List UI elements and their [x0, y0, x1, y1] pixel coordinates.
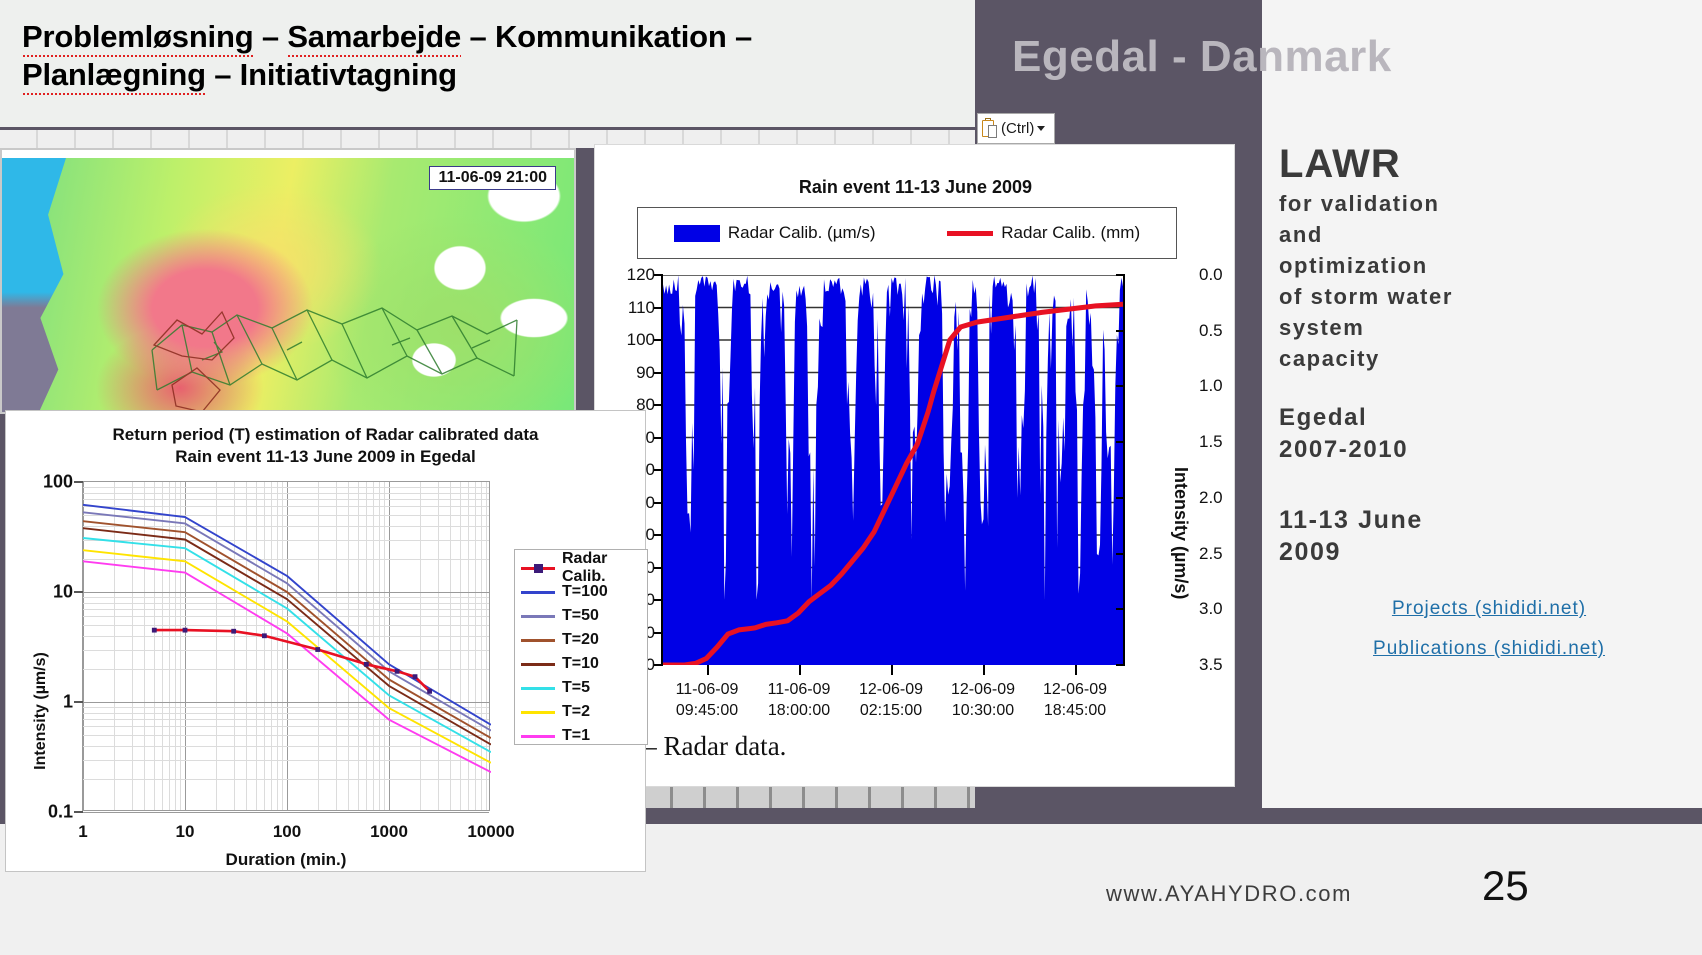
slide-root: Problemløsning – Samarbejde – Kommunikat… [0, 0, 1702, 955]
rain-x-label-date: 12-06-09 [1020, 679, 1130, 700]
rp-legend-item: T=5 [521, 676, 647, 700]
rain-x-tickmark [983, 665, 985, 675]
rain-y-left-tickmark [654, 567, 663, 569]
rain-y-left-tickmark [654, 599, 663, 601]
legend-swatch-line-icon [947, 231, 993, 236]
rain-y-axis-right: 0.00.51.01.52.02.53.03.5 [1123, 275, 1125, 665]
page-number: 25 [1482, 862, 1529, 910]
rp-x-tick: 1000 [370, 822, 408, 842]
rain-y-right-tick: 0.5 [1199, 321, 1223, 341]
rain-x-tickmark [891, 665, 893, 675]
rain-y-right-tick: 1.5 [1199, 432, 1223, 452]
rp-x-tick: 1 [78, 822, 87, 842]
clipboard-paste-icon [981, 118, 999, 139]
rp-legend-label: T=50 [562, 607, 599, 625]
rp-legend-label: T=20 [562, 631, 599, 649]
rp-x-tick: 100 [273, 822, 301, 842]
rain-y-right-tick: 1.0 [1199, 376, 1223, 396]
info-links: Projects (shididi.net) Publications (shi… [1279, 598, 1699, 660]
rp-legend-label: T=1 [562, 727, 590, 745]
rain-y-left-tickmark [654, 437, 663, 439]
legend-label-accumulated: Radar Calib. (mm) [1001, 223, 1140, 243]
rp-data-marker [315, 647, 320, 652]
rp-data-marker [231, 629, 236, 634]
rain-y-right-tick: 2.0 [1199, 488, 1223, 508]
rp-data-marker [413, 674, 418, 679]
rp-legend-swatch-icon [521, 735, 555, 738]
rp-legend-label: Radar Calib. [562, 550, 647, 586]
radar-timestamp: 11-06-09 21:00 [429, 166, 556, 190]
header-line-2: Planlægning – Initiativtagning [22, 56, 975, 94]
rp-y-tick: 0.1 [48, 802, 73, 823]
rain-y-right-tickmark [1116, 274, 1125, 276]
rain-y-left-tickmark [654, 307, 663, 309]
rp-plot-area: 0.1110100 110100100010000 Duration (min.… [82, 481, 490, 811]
rp-data-marker [364, 662, 369, 667]
radar-map-image: 11-06-09 21:00 [0, 148, 576, 414]
rain-y-left-tickmark [654, 469, 663, 471]
rp-legend-label: T=2 [562, 703, 590, 721]
rain-y-right-tick: 2.5 [1199, 544, 1223, 564]
header-line-1: Problemløsning – Samarbejde – Kommunikat… [22, 18, 975, 56]
info-event-date-line2: 2009 [1279, 536, 1699, 568]
info-subtitle-line-2: optimization [1279, 250, 1699, 281]
info-years: 2007-2010 [1279, 434, 1699, 466]
rp-data-marker [427, 689, 432, 694]
legend-item-accumulated: Radar Calib. (mm) [947, 223, 1140, 243]
rp-legend-item: T=1 [521, 724, 647, 748]
rp-legend-item: T=10 [521, 652, 647, 676]
rp-series-radar-calib- [154, 630, 429, 691]
rain-x-axis-labels: 11-06-0909:45:0011-06-0918:00:0012-06-09… [595, 679, 1195, 729]
rp-y-tickmark [74, 811, 83, 813]
info-subtitle-line-5: capacity [1279, 343, 1699, 374]
rain-y-left-tickmark [654, 372, 663, 374]
rain-x-tickmark [1075, 665, 1077, 675]
rain-y-axis-right-title: Intensity (µm/s) [1170, 467, 1191, 599]
rp-y-tickmark [74, 591, 83, 593]
rp-grid-h [83, 812, 489, 813]
rain-event-chart: Rain event 11-13 June 2009 Radar Calib. … [595, 163, 1236, 743]
rp-legend-item: T=50 [521, 604, 647, 628]
rain-x-tickmark [799, 665, 801, 675]
rp-legend-swatch-icon [521, 663, 555, 666]
link-projects[interactable]: Projects (shididi.net) [1279, 598, 1699, 620]
rp-series-t-5 [83, 538, 491, 752]
rain-y-right-tick: 3.5 [1199, 655, 1223, 675]
rp-legend-label: T=100 [562, 583, 608, 601]
rp-y-tickmark [74, 481, 83, 483]
rain-chart-svg [663, 275, 1123, 665]
info-subtitle: for validationandoptimizationof storm wa… [1279, 188, 1699, 374]
rp-legend-label: T=10 [562, 655, 599, 673]
rp-legend-swatch-icon [521, 687, 555, 690]
info-location: Egedal [1279, 402, 1699, 434]
header-sep-1: – [253, 19, 287, 54]
info-location-block: Egedal 2007-2010 [1279, 402, 1699, 466]
info-subtitle-line-4: system [1279, 312, 1699, 343]
rp-legend-swatch-icon [521, 711, 555, 714]
rain-y-right-tick: 3.0 [1199, 599, 1223, 619]
rp-x-tick: 10 [176, 822, 195, 842]
rain-chart-plot-wrap: 0102030405060708090100110120 0.00.51.01.… [595, 267, 1236, 743]
rp-data-marker [183, 628, 188, 633]
rain-y-left-tickmark [654, 502, 663, 504]
info-subtitle-line-0: for validation [1279, 188, 1699, 219]
rp-legend: Radar Calib.T=100T=50T=20T=10T=5T=2T=1 [514, 549, 648, 745]
rain-y-right-tickmark [1116, 497, 1125, 499]
header-word-problemlosning: Problemløsning [22, 18, 253, 56]
rain-chart-plot-area: 0102030405060708090100110120 [661, 275, 1121, 665]
paste-options-button[interactable]: (Ctrl) [977, 113, 1055, 144]
rp-data-marker [262, 633, 267, 638]
legend-label-intensity: Radar Calib. (µm/s) [728, 223, 876, 243]
rp-series-t-10 [83, 528, 491, 744]
rp-data-marker [152, 628, 157, 633]
link-publications[interactable]: Publications (shididi.net) [1279, 638, 1699, 660]
rain-y-left-tick: 90 [636, 363, 655, 383]
rain-x-tickmark [707, 665, 709, 675]
rp-y-tick: 100 [43, 472, 73, 493]
rp-legend-swatch-icon [521, 567, 555, 570]
chevron-down-icon[interactable] [1037, 126, 1045, 131]
scanned-edge-strip-lower [640, 787, 975, 808]
rp-y-tick: 10 [53, 582, 73, 603]
rain-x-label-time: 18:45:00 [1020, 700, 1130, 721]
info-subtitle-line-3: of storm water [1279, 281, 1699, 312]
info-panel-content: LAWR for validationandoptimizationof sto… [1279, 140, 1699, 678]
rain-y-left-tickmark [654, 404, 663, 406]
header-text-box[interactable]: Problemløsning – Samarbejde – Kommunikat… [0, 0, 975, 130]
rp-series-t-20 [83, 521, 491, 738]
rp-series-t-2 [83, 550, 491, 763]
rain-y-left-tick: 110 [628, 298, 655, 318]
rp-legend-label: T=5 [562, 679, 590, 697]
rain-y-right-tickmark [1116, 385, 1125, 387]
rain-y-left-tick: 100 [627, 330, 655, 350]
rain-y-left-tickmark [654, 632, 663, 634]
rp-x-tick: 10000 [467, 822, 514, 842]
rp-legend-swatch-icon [521, 639, 555, 642]
rp-y-tickmark [74, 701, 83, 703]
rain-y-right-tickmark [1116, 330, 1125, 332]
rain-intensity-area [663, 275, 1123, 665]
rp-legend-item: T=20 [521, 628, 647, 652]
rp-y-axis-title: Intensity (µm/s) [32, 652, 50, 770]
header-word-samarbejde: Samarbejde [287, 18, 461, 56]
rain-x-axis-ticks [661, 665, 1121, 675]
rain-y-right-tickmark [1116, 608, 1125, 610]
info-title: LAWR [1279, 140, 1699, 188]
info-event-date: 11-13 June 2009 [1279, 504, 1699, 568]
info-subtitle-line-1: and [1279, 219, 1699, 250]
rp-title-line-1: Return period (T) estimation of Radar ca… [6, 424, 645, 446]
rp-y-tick: 1 [63, 692, 73, 713]
rain-chart-title: Rain event 11-13 June 2009 [595, 177, 1236, 198]
rain-y-right-tickmark [1116, 553, 1125, 555]
rp-series-svg [83, 482, 491, 812]
rain-y-left-tickmark [654, 339, 663, 341]
rp-data-marker [395, 669, 400, 674]
rp-legend-item: Radar Calib. [521, 556, 647, 580]
rain-y-left-tick: 120 [627, 265, 655, 285]
header-sep-2: – Kommunikation – [461, 19, 752, 54]
legend-item-intensity: Radar Calib. (µm/s) [674, 223, 876, 243]
rain-y-left-tickmark [654, 274, 663, 276]
rain-y-left-tickmark [654, 534, 663, 536]
rp-legend-swatch-icon [521, 615, 555, 618]
rp-x-axis-title: Duration (min.) [226, 850, 347, 870]
rain-x-label: 12-06-0918:45:00 [1020, 679, 1130, 721]
rp-legend-swatch-icon [521, 591, 555, 594]
footer-url: www.AYAHYDRO.com [1106, 881, 1352, 907]
return-period-chart-window[interactable]: Return period (T) estimation of Radar ca… [5, 410, 646, 872]
rp-title-line-2: Rain event 11-13 June 2009 in Egedal [6, 446, 645, 468]
info-event-date-line1: 11-13 June [1279, 504, 1699, 536]
rp-legend-item: T=2 [521, 700, 647, 724]
header-word-planlaegning: Planlægning [22, 56, 206, 94]
rain-y-right-tickmark [1116, 441, 1125, 443]
page-title: Egedal - Danmark [1012, 32, 1392, 82]
rain-y-right-tick: 0.0 [1199, 265, 1223, 285]
rain-chart-card: Rain event 11-13 June 2009 Radar Calib. … [594, 144, 1235, 787]
road-network-overlay [142, 290, 532, 414]
paste-options-label: (Ctrl) [1001, 120, 1034, 137]
header-line2-rest: – Initiativtagning [206, 57, 457, 92]
rain-chart-legend: Radar Calib. (µm/s) Radar Calib. (mm) [637, 207, 1177, 259]
legend-swatch-bar-icon [674, 225, 720, 242]
